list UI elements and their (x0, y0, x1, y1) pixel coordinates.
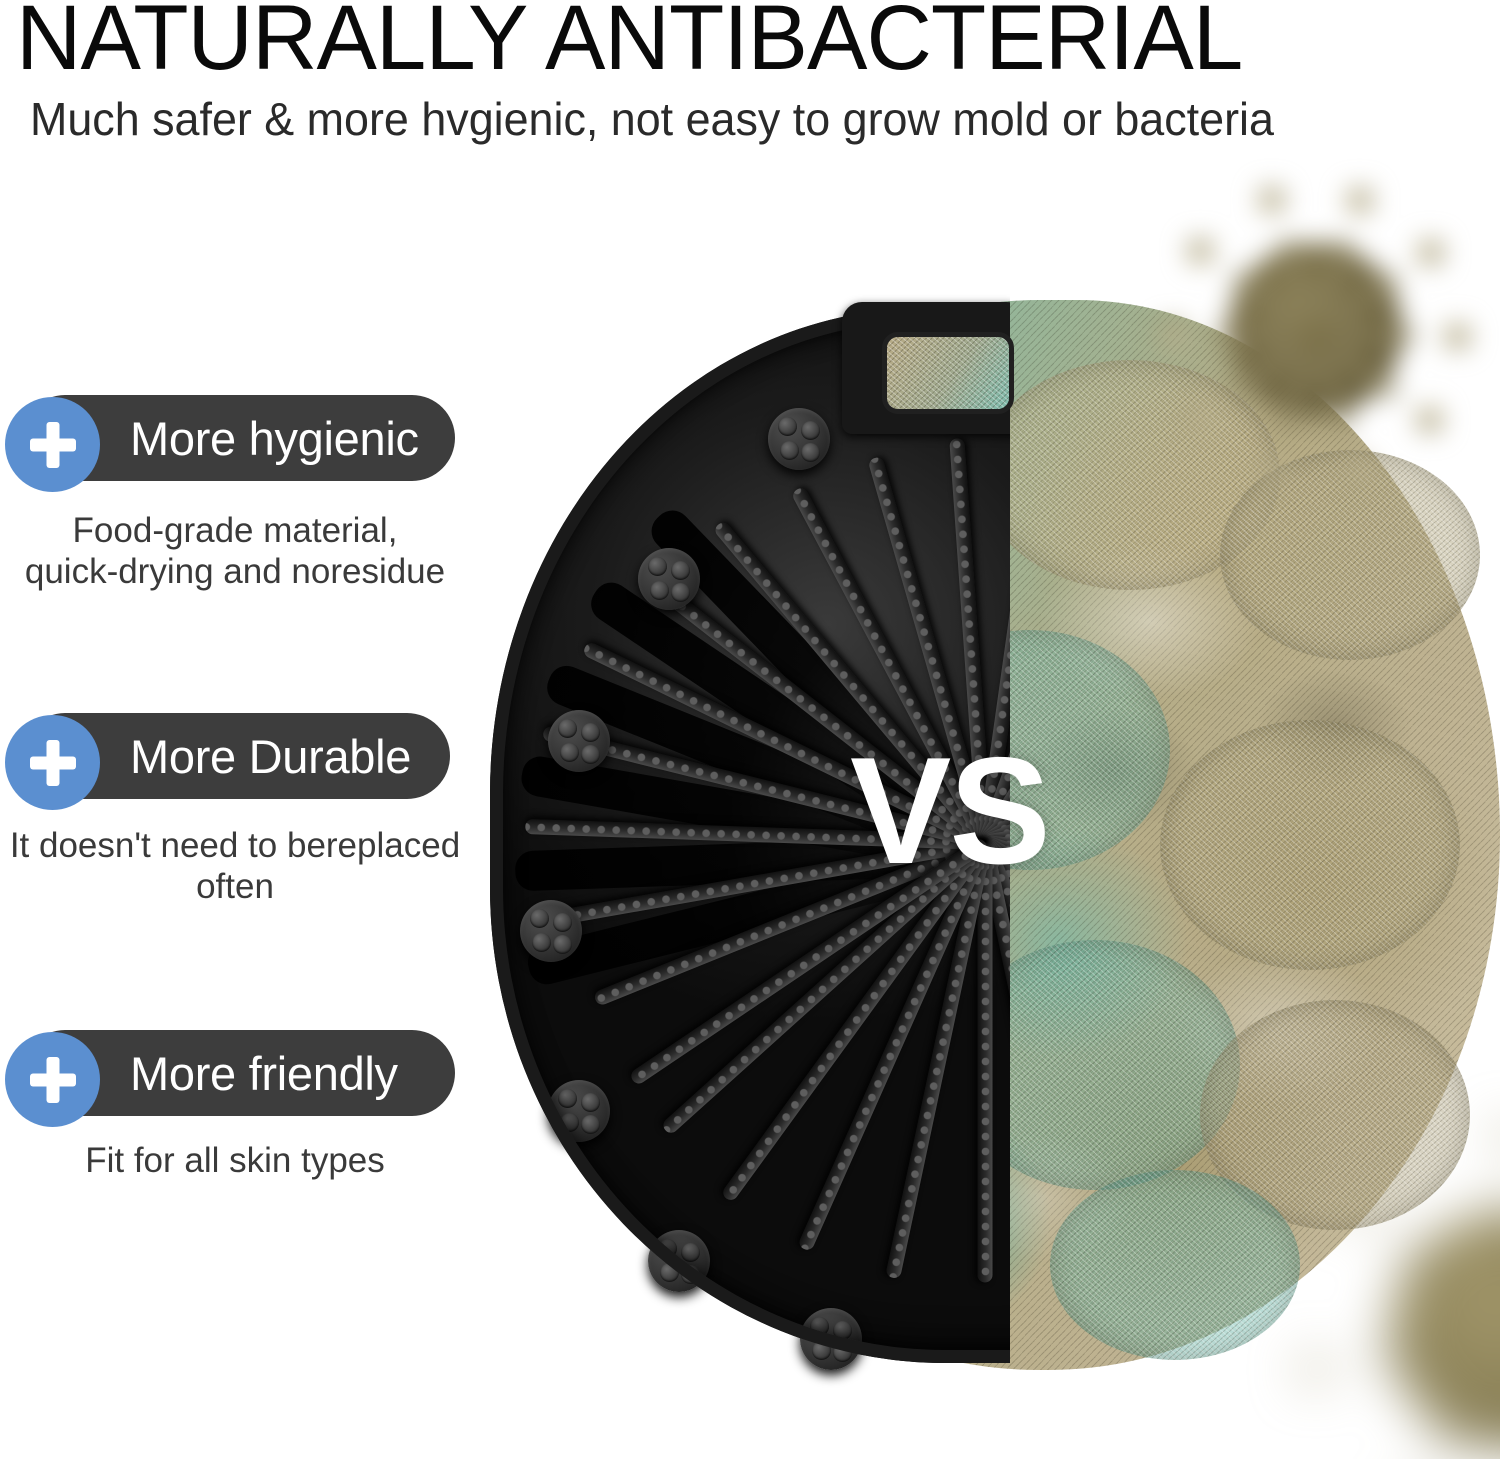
page-subtitle: Much safer & more hvgienic, not easy to … (30, 96, 1434, 142)
feature-description-more-durable: It doesn't need to bereplaced often (0, 825, 470, 908)
plus-icon (5, 715, 100, 810)
product-comparison-infographic: NATURALLY ANTIBACTERIAL Much safer & mor… (0, 0, 1500, 1459)
suction-pad (548, 710, 610, 772)
suction-pad (800, 1308, 862, 1370)
suction-pad (520, 900, 582, 962)
suction-pad (548, 1080, 610, 1142)
feature-label: More friendly (130, 1050, 398, 1097)
plus-icon (5, 1032, 100, 1127)
virus-spike (1315, 330, 1470, 341)
vs-label: VS (850, 735, 1049, 887)
feature-label: More Durable (130, 733, 411, 780)
feature-description-more-hygienic: Food-grade material, quick-drying and no… (0, 510, 470, 593)
suction-pad (638, 548, 700, 610)
suction-pad (768, 408, 830, 470)
virus-spike (1160, 330, 1315, 341)
virus-particle-icon (1160, 175, 1470, 485)
silicone-fin (978, 843, 993, 1283)
suction-pad (648, 1230, 710, 1292)
feature-label: More hygienic (130, 415, 419, 462)
feature-description-more-friendly: Fit for all skin types (0, 1140, 470, 1181)
comparison-composite: VS (470, 280, 1500, 1420)
page-title: NATURALLY ANTIBACTERIAL (16, 0, 1444, 84)
plus-icon (5, 397, 100, 492)
hang-hole (882, 332, 1014, 414)
